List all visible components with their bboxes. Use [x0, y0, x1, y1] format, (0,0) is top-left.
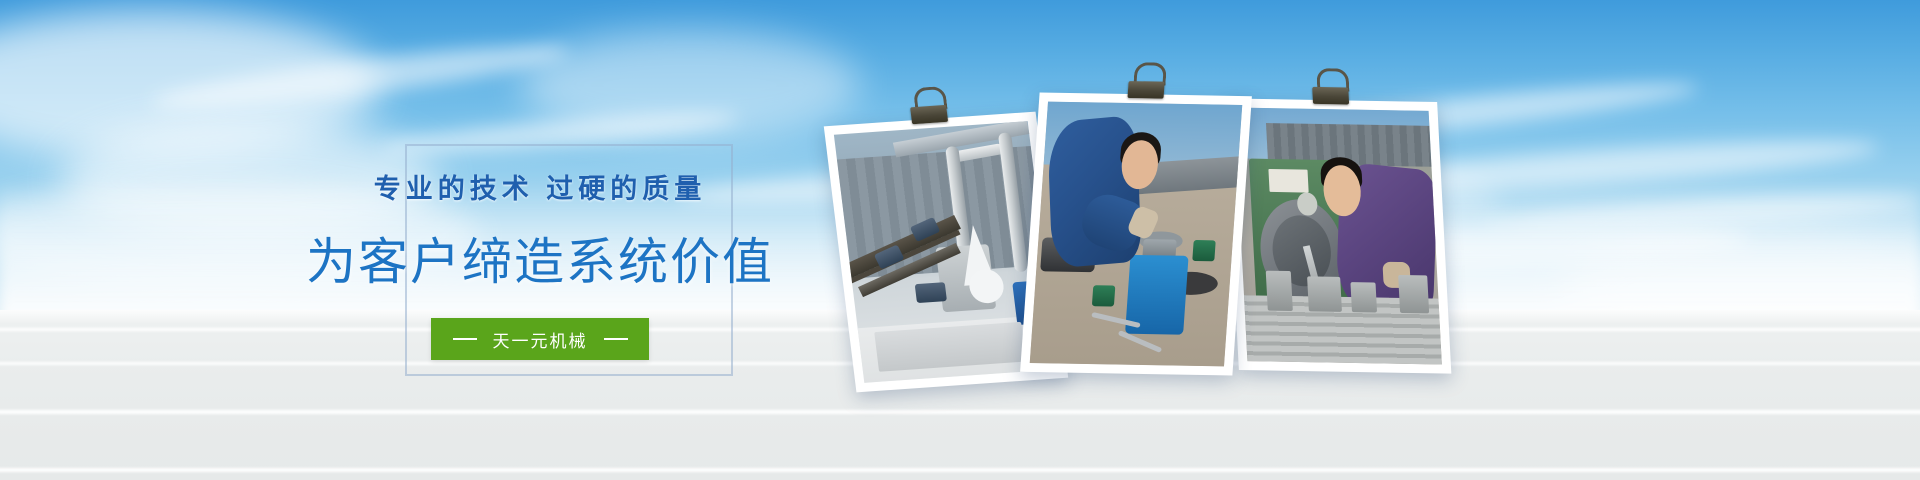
binder-clip-icon — [1123, 68, 1169, 99]
dash-right-icon — [604, 338, 628, 340]
binder-clip-icon — [905, 92, 953, 125]
hero-text-block: 专业的技术 过硬的质量 为客户缔造系统价值 天一元机械 — [330, 145, 750, 375]
binder-clip-icon — [1307, 74, 1353, 105]
photo-worker-assembling-gearbox — [1030, 102, 1243, 367]
photo-worker-operating-lathe — [1234, 107, 1442, 364]
photo-card-worker-gearbox[interactable] — [1020, 92, 1252, 375]
brand-cta-button[interactable]: 天一元机械 — [431, 318, 649, 360]
photo-card-worker-lathe[interactable] — [1225, 98, 1452, 373]
hero-banner: 专业的技术 过硬的质量 为客户缔造系统价值 天一元机械 — [0, 0, 1920, 480]
dash-left-icon — [453, 338, 477, 340]
photo-collage — [840, 60, 1500, 400]
hero-headline: 为客户缔造系统价值 — [306, 222, 774, 294]
hero-subheadline: 专业的技术 过硬的质量 — [374, 167, 707, 206]
brand-cta-label: 天一元机械 — [493, 327, 588, 352]
